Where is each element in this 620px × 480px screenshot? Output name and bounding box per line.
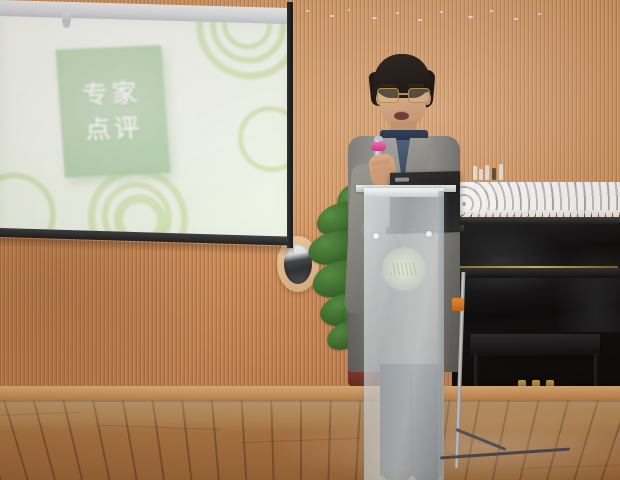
screen-pull-knob[interactable] bbox=[62, 13, 71, 26]
wall-speck bbox=[372, 17, 377, 19]
screen-frame-edge bbox=[287, 2, 293, 248]
glasses-icon bbox=[377, 88, 429, 101]
wall-speck bbox=[348, 9, 350, 11]
wall-shelf bbox=[470, 160, 510, 184]
eyebrow bbox=[380, 84, 396, 87]
eyebrow bbox=[408, 84, 424, 87]
wall-speck bbox=[490, 10, 493, 12]
wall-speck bbox=[396, 12, 399, 14]
piano-lace-doily bbox=[452, 182, 620, 213]
glasses-lens bbox=[377, 88, 399, 103]
podium-stud bbox=[426, 231, 432, 237]
bottle-item bbox=[473, 166, 477, 180]
wall-speck bbox=[418, 19, 422, 21]
wall-speck bbox=[330, 15, 334, 17]
bottle-item bbox=[479, 169, 483, 180]
upright-piano bbox=[452, 182, 620, 400]
wall-speck bbox=[468, 16, 473, 18]
mouth bbox=[394, 112, 409, 120]
piano-bench bbox=[470, 334, 600, 356]
acrylic-podium bbox=[364, 188, 444, 480]
projection-screen: 专家 点评 bbox=[0, 0, 296, 246]
wall-speck bbox=[440, 11, 443, 13]
glasses-bridge bbox=[398, 93, 408, 95]
lace-scallop-edge bbox=[452, 210, 620, 217]
emblem-mark-icon bbox=[391, 263, 417, 275]
wall-specks bbox=[300, 6, 620, 32]
podium-emblem bbox=[382, 247, 426, 291]
bottle-item bbox=[499, 164, 503, 180]
bottle-item bbox=[492, 168, 496, 180]
wall-speck bbox=[306, 10, 309, 12]
bottle-item bbox=[485, 165, 489, 180]
podium-rail bbox=[364, 191, 444, 197]
glasses-lens bbox=[408, 88, 430, 103]
photo-scene: 专家 点评 bbox=[0, 0, 620, 480]
piano-keyboard-lid bbox=[452, 268, 620, 278]
wall-speck bbox=[514, 18, 518, 20]
piano-gloss-reflection bbox=[452, 224, 620, 346]
podium-side-edge bbox=[438, 191, 444, 480]
screen-glow bbox=[0, 12, 290, 243]
laptop-logo-icon bbox=[395, 177, 409, 181]
microphone-pink-band bbox=[371, 142, 386, 151]
podium-stud bbox=[373, 233, 379, 239]
floor-gloss bbox=[0, 400, 620, 480]
wall-speck bbox=[538, 13, 541, 15]
orange-cable-clip bbox=[452, 298, 464, 311]
